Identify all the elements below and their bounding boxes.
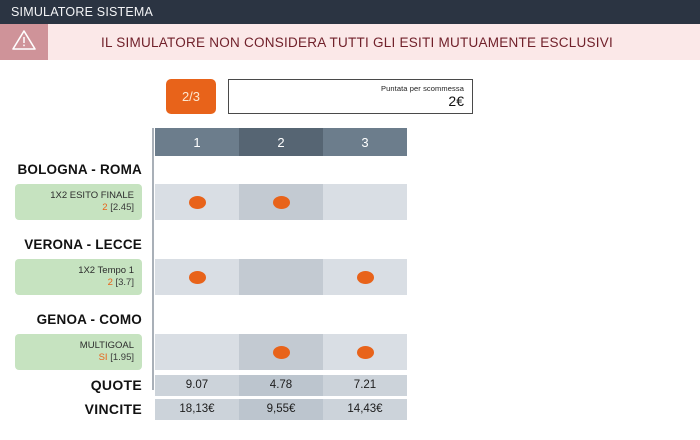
event-pick-cell: 1X2 Tempo 1 2 [3.7] — [0, 259, 145, 295]
mark-cell[interactable] — [323, 259, 407, 295]
selected-dot-icon — [357, 271, 374, 284]
selected-dot-icon — [357, 346, 374, 359]
selected-dot-icon — [273, 346, 290, 359]
selected-dot-icon — [273, 196, 290, 209]
mark-cell[interactable] — [323, 184, 407, 220]
totals-label: VINCITE — [85, 401, 142, 417]
totals-value: 9.07 — [155, 375, 239, 396]
event-title-cell: VERONA - LECCE — [0, 237, 145, 252]
mark-cell[interactable] — [239, 334, 323, 370]
selection-market: 1X2 Tempo 1 — [78, 265, 134, 277]
selection-market: MULTIGOAL — [80, 340, 134, 352]
event-title-row: GENOA - COMO — [0, 306, 700, 332]
selection-outcome-line: 2 [2.45] — [102, 202, 134, 214]
totals-value: 18,13€ — [155, 399, 239, 420]
event-match-name: GENOA - COMO — [37, 312, 142, 327]
totals-values: 18,13€ 9,55€ 14,43€ — [155, 399, 407, 420]
event-gap — [0, 222, 700, 231]
event-title-cell: GENOA - COMO — [0, 312, 145, 327]
selection-box[interactable]: 1X2 ESITO FINALE 2 [2.45] — [15, 184, 142, 220]
totals-label-cell: QUOTE — [0, 377, 145, 393]
event-pick-cell: MULTIGOAL SI [1.95] — [0, 334, 145, 370]
selection-odd: [2.45] — [110, 202, 134, 213]
warning-icon-container — [0, 24, 48, 60]
event-mark-cols — [155, 259, 407, 295]
simulation-board: 1 2 3 BOLOGNA - ROMA 1X2 ESITO FINALE 2 … — [0, 128, 700, 420]
mark-cell[interactable] — [239, 184, 323, 220]
event-gap — [0, 297, 700, 306]
event-selection-row: 1X2 Tempo 1 2 [3.7] — [0, 257, 700, 297]
window-titlebar: SIMULATORE SISTEMA — [0, 0, 700, 24]
mark-cell[interactable] — [155, 334, 239, 370]
warning-banner-text: IL SIMULATORE NON CONSIDERA TUTTI GLI ES… — [101, 35, 647, 50]
stake-per-bet-label: Puntata per scommessa — [381, 84, 464, 93]
column-header-3: 3 — [323, 128, 407, 156]
totals-value: 14,43€ — [323, 399, 407, 420]
selected-dot-icon — [189, 196, 206, 209]
selection-odd: [3.7] — [116, 277, 135, 288]
totals-value: 9,55€ — [239, 399, 323, 420]
stake-per-bet-value: 2€ — [448, 94, 464, 109]
event-title-row: VERONA - LECCE — [0, 231, 700, 257]
selection-outcome-line: SI [1.95] — [99, 352, 134, 364]
event-pick-cell: 1X2 ESITO FINALE 2 [2.45] — [0, 184, 145, 220]
board-vertical-divider — [152, 128, 154, 390]
selection-outcome-line: 2 [3.7] — [108, 277, 134, 289]
warning-triangle-icon — [11, 28, 37, 57]
totals-label: QUOTE — [91, 377, 142, 393]
selection-outcome: SI — [99, 352, 108, 363]
event-selection-row: MULTIGOAL SI [1.95] — [0, 332, 700, 372]
totals-value: 7.21 — [323, 375, 407, 396]
totals-row-quote: QUOTE 9.07 4.78 7.21 — [0, 374, 700, 396]
stake-per-bet-field[interactable]: Puntata per scommessa 2€ — [228, 79, 473, 114]
warning-banner: IL SIMULATORE NON CONSIDERA TUTTI GLI ES… — [0, 24, 700, 60]
column-header-2: 2 — [239, 128, 323, 156]
event-match-name: VERONA - LECCE — [24, 237, 142, 252]
selection-outcome: 2 — [108, 277, 113, 288]
mark-cell[interactable] — [323, 334, 407, 370]
controls-row: 2/3 Puntata per scommessa 2€ — [166, 79, 473, 114]
mark-cell[interactable] — [239, 259, 323, 295]
selection-box[interactable]: MULTIGOAL SI [1.95] — [15, 334, 142, 370]
warning-banner-body: IL SIMULATORE NON CONSIDERA TUTTI GLI ES… — [48, 24, 700, 60]
ticket-count-button[interactable]: 2/3 — [166, 79, 216, 114]
mark-cell[interactable] — [155, 184, 239, 220]
column-header-1: 1 — [155, 128, 239, 156]
event-mark-cols — [155, 184, 407, 220]
totals-values: 9.07 4.78 7.21 — [155, 375, 407, 396]
mark-cell[interactable] — [155, 259, 239, 295]
event-title-cell: BOLOGNA - ROMA — [0, 162, 145, 177]
selection-box[interactable]: 1X2 Tempo 1 2 [3.7] — [15, 259, 142, 295]
totals-value: 4.78 — [239, 375, 323, 396]
event-mark-cols — [155, 334, 407, 370]
event-selection-row: 1X2 ESITO FINALE 2 [2.45] — [0, 182, 700, 222]
selection-outcome: 2 — [102, 202, 107, 213]
selected-dot-icon — [189, 271, 206, 284]
totals-row-vincite: VINCITE 18,13€ 9,55€ 14,43€ — [0, 398, 700, 420]
column-headers: 1 2 3 — [155, 128, 407, 156]
column-header-row: 1 2 3 — [0, 128, 700, 156]
event-match-name: BOLOGNA - ROMA — [17, 162, 142, 177]
selection-market: 1X2 ESITO FINALE — [50, 190, 134, 202]
event-title-row: BOLOGNA - ROMA — [0, 156, 700, 182]
totals-label-cell: VINCITE — [0, 401, 145, 417]
selection-odd: [1.95] — [110, 352, 134, 363]
window-title: SIMULATORE SISTEMA — [11, 5, 153, 19]
